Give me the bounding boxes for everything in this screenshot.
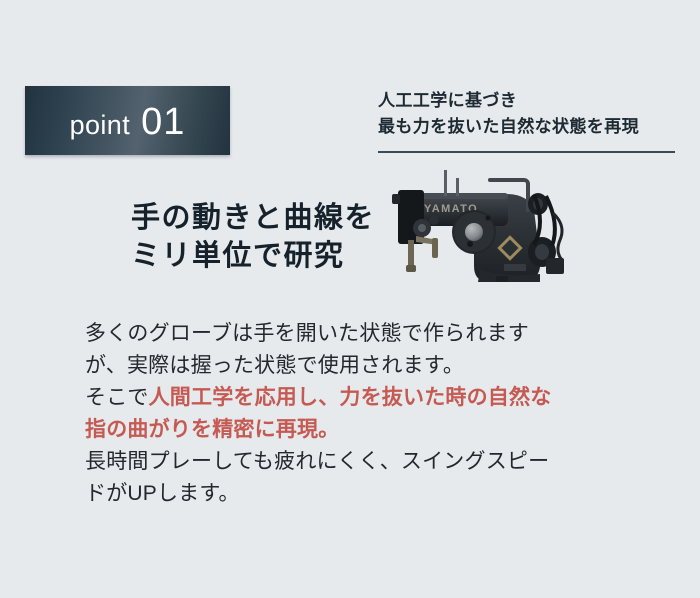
copy-text-2-1: が、実際は握った状態で使用されます。: [85, 354, 464, 377]
point-badge-number: 01: [141, 103, 185, 141]
kicker-text: 人工工学に基づき 最も力を抜いた自然な状態を再現: [378, 88, 678, 140]
kicker-divider: [378, 151, 675, 153]
kicker-line-2: 最も力を抜いた自然な状態を再現: [378, 114, 678, 140]
copy-text-1-1: 多くのグローブは手を開いた状態で作られます: [85, 322, 529, 345]
point-badge-word: point: [70, 112, 131, 139]
copy-line-5: 長時間プレーしても疲れにくく、スイングスピー: [85, 446, 605, 478]
point-badge-content: point 01: [70, 103, 186, 141]
body-copy: 多くのグローブは手を開いた状態で作られますが、実際は握った状態で使用されます。そ…: [85, 318, 605, 510]
copy-text-3-1: そこで: [85, 386, 149, 409]
copy-line-6: ドがUPします。: [85, 478, 605, 510]
copy-line-4: 指の曲がりを精密に再現。: [85, 414, 605, 446]
copy-line-1: 多くのグローブは手を開いた状態で作られます: [85, 318, 605, 350]
headline: 手の動きと曲線を ミリ単位で研究: [131, 199, 375, 275]
point-badge: point 01: [25, 86, 230, 155]
headline-line-1: 手の動きと曲線を: [131, 199, 375, 237]
copy-line-2: が、実際は握った状態で使用されます。: [85, 350, 605, 382]
copy-accent-4-1: 指の曲がりを精密に再現。: [85, 418, 339, 441]
sewing-machine-photo: YAMATO: [378, 166, 570, 288]
headline-line-2: ミリ単位で研究: [131, 237, 375, 275]
kicker-line-1: 人工工学に基づき: [378, 88, 678, 114]
copy-accent-3-2: 人間工学を応用し、力を抜いた時の自然な: [149, 386, 552, 409]
copy-text-6-1: ドがUPします。: [85, 482, 240, 505]
copy-text-5-1: 長時間プレーしても疲れにくく、スイングスピー: [85, 450, 549, 473]
copy-line-3: そこで人間工学を応用し、力を抜いた時の自然な: [85, 382, 605, 414]
promo-panel: point 01 人工工学に基づき 最も力を抜いた自然な状態を再現 手の動きと曲…: [0, 0, 700, 598]
